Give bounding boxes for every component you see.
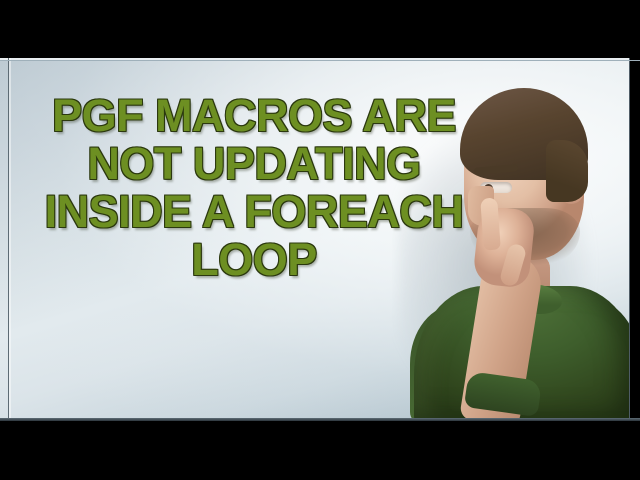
slide-frame-right-margin bbox=[630, 58, 640, 421]
headline-line-3: INSIDE A FOREACH bbox=[34, 188, 474, 236]
letterbox-bar-top bbox=[0, 0, 640, 58]
index-finger bbox=[480, 197, 501, 250]
slide-frame-top-hairline bbox=[0, 60, 640, 61]
headline-line-1: PGF MACROS ARE bbox=[34, 92, 474, 140]
letterbox-bar-bottom bbox=[0, 421, 640, 480]
headline-text-block: PGF MACROS ARE NOT UPDATING INSIDE A FOR… bbox=[34, 92, 474, 284]
headline-line-4: LOOP bbox=[34, 236, 474, 284]
slide-frame-left-highlight bbox=[9, 58, 11, 421]
hair-sideburn bbox=[546, 140, 588, 202]
thumbnail-canvas: PGF MACROS ARE NOT UPDATING INSIDE A FOR… bbox=[0, 0, 640, 480]
headline-line-2: NOT UPDATING bbox=[34, 140, 474, 188]
slide-content-area: PGF MACROS ARE NOT UPDATING INSIDE A FOR… bbox=[0, 58, 640, 421]
